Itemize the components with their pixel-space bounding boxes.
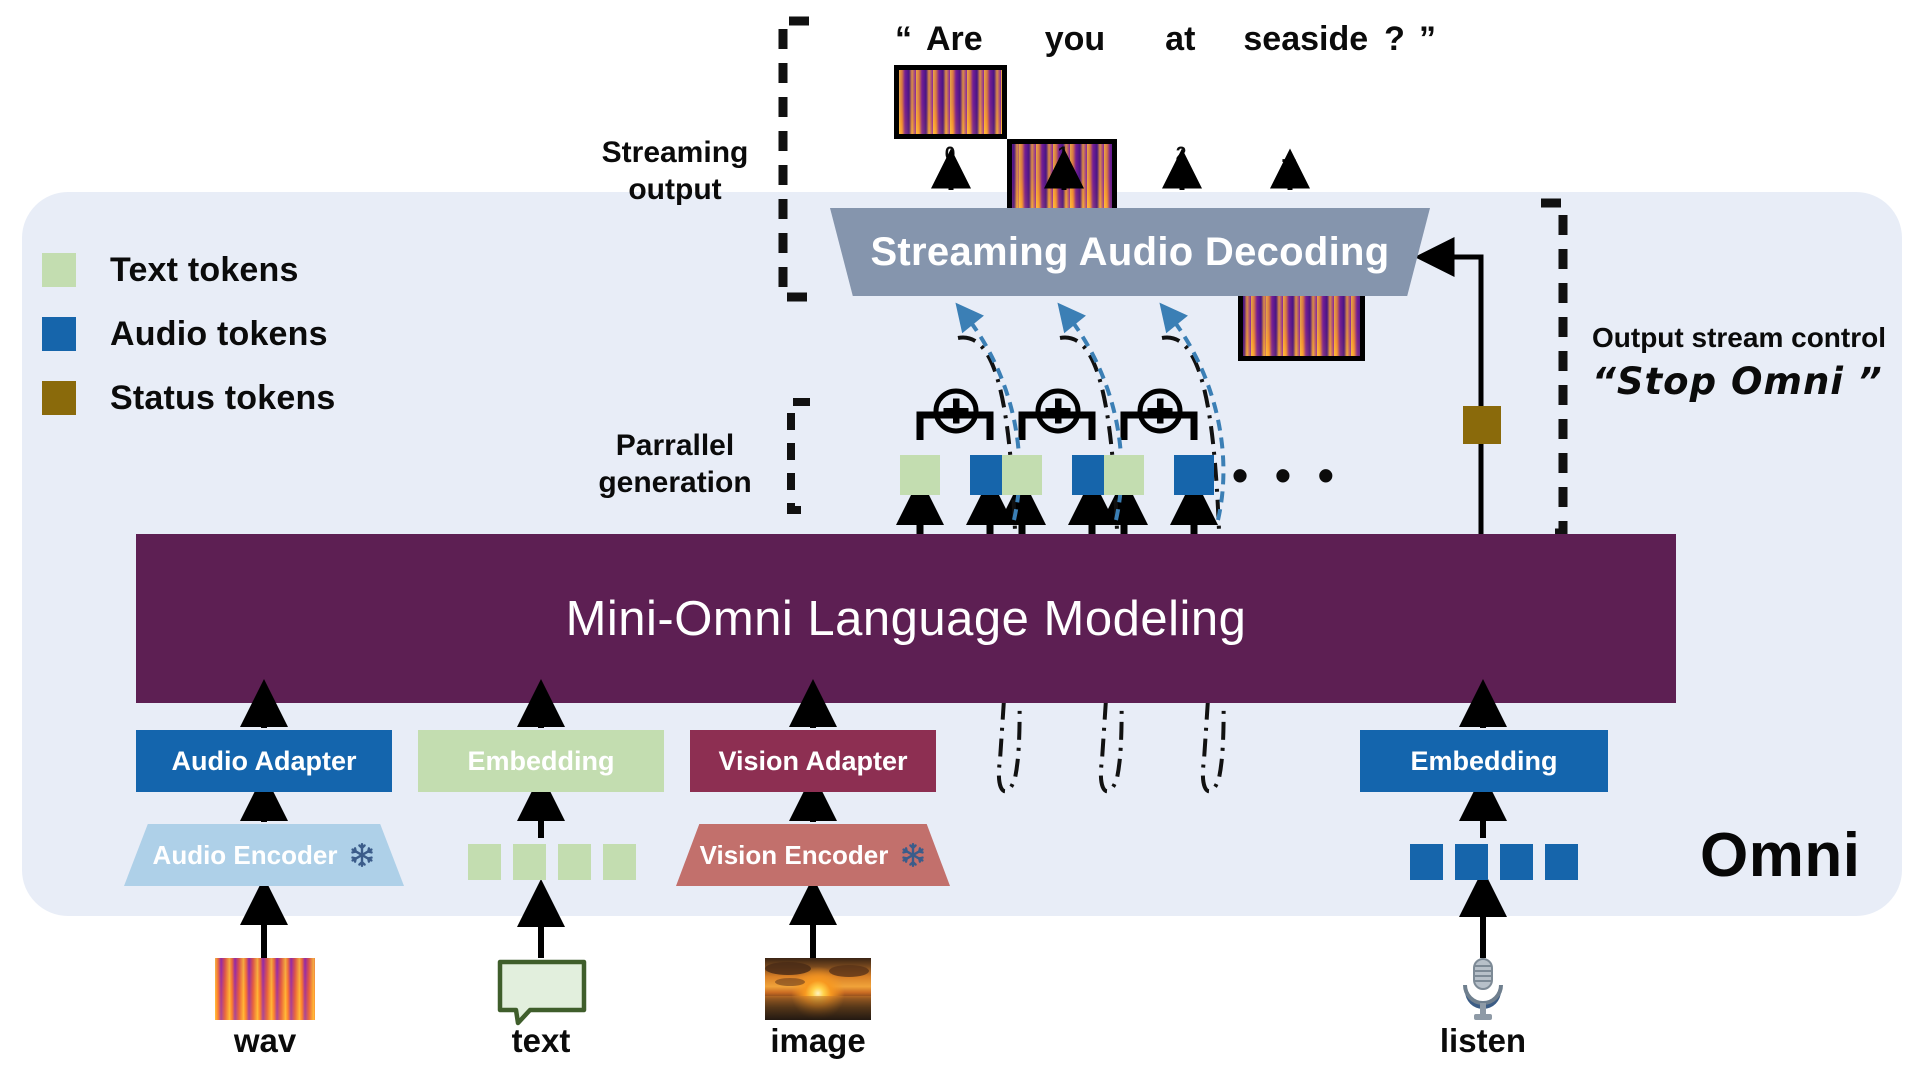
output-stream-control: Output stream control “Stop Omni ” <box>1592 322 1886 403</box>
legend-item-audio-tokens: Audio tokens <box>42 304 336 364</box>
sum-operator <box>1136 387 1184 440</box>
output-word: Are <box>926 20 983 59</box>
audio-embedding-label: Embedding <box>1411 746 1558 777</box>
output-stream-control-line2: “Stop Omni ” <box>1592 360 1886 403</box>
snowflake-icon <box>349 842 375 868</box>
input-label-image: image <box>743 1022 893 1060</box>
text-token-square <box>603 844 636 880</box>
output-word: ? <box>1384 20 1405 59</box>
streaming-audio-decoding-block[interactable]: Streaming Audio Decoding <box>830 208 1430 296</box>
vision-adapter-label: Vision Adapter <box>718 746 907 777</box>
streaming-output-bracket <box>775 18 815 300</box>
input-label-listen: listen <box>1408 1022 1558 1060</box>
page-title: Omni <box>1700 820 1860 891</box>
output-stream-control-line1: Output stream control <box>1592 322 1886 354</box>
parallel-generation-label-line2: generation <box>575 465 775 502</box>
streaming-output-sentence: “ Are you at seaside ? ” <box>895 15 1435 63</box>
parallel-generation-bracket <box>782 398 816 514</box>
legend-item-label: Audio tokens <box>110 315 328 354</box>
sum-operator <box>1034 387 1082 440</box>
spectrogram-thumbnail <box>215 958 315 1020</box>
text-token-square <box>900 455 940 495</box>
mini-omni-backbone[interactable]: Mini-Omni Language Modeling <box>136 534 1676 703</box>
sum-operator <box>932 387 980 440</box>
speech-bubble-icon <box>496 958 588 1031</box>
output-word: at <box>1165 20 1195 59</box>
microphone-icon <box>1452 955 1514 1030</box>
legend-item-label: Status tokens <box>110 379 336 418</box>
quote-open: “ <box>895 20 912 59</box>
input-label-text: text <box>466 1022 616 1060</box>
legend-item-text-tokens: Text tokens <box>42 240 336 300</box>
legend-item-status-tokens: Status tokens <box>42 368 336 428</box>
streaming-output-label-line2: output <box>580 172 770 209</box>
output-word: seaside <box>1243 20 1368 59</box>
vision-adapter-block[interactable]: Vision Adapter <box>690 730 936 792</box>
output-stream-control-bracket <box>1537 198 1577 538</box>
quote-close: ” <box>1419 20 1436 59</box>
chunk-index: 1 <box>1043 144 1083 166</box>
text-token-strip <box>468 844 636 880</box>
parallel-generation-label-line1: Parrallel <box>575 428 775 465</box>
parallel-generation-label: Parrallel generation <box>575 428 775 501</box>
spectrogram-chunk <box>1238 287 1365 361</box>
text-token-square <box>558 844 591 880</box>
audio-embedding-block[interactable]: Embedding <box>1360 730 1608 792</box>
streaming-audio-decoding-label: Streaming Audio Decoding <box>870 230 1389 275</box>
chunk-index: 2 <box>1161 144 1201 166</box>
snowflake-icon <box>900 842 926 868</box>
audio-token-strip <box>1410 844 1578 880</box>
legend-item-label: Text tokens <box>110 251 299 290</box>
audio-adapter-block[interactable]: Audio Adapter <box>136 730 392 792</box>
status-tokens-swatch-icon <box>42 381 76 415</box>
streaming-output-label: Streaming output <box>580 135 770 208</box>
spectrogram-chunk <box>894 65 1007 139</box>
text-token-square <box>1104 455 1144 495</box>
chunk-index: 0 <box>930 144 970 166</box>
sunset-photo-thumbnail <box>765 958 871 1020</box>
vision-encoder-block[interactable]: Vision Encoder <box>676 824 950 886</box>
status-token-square <box>1463 406 1501 444</box>
text-token-square <box>1002 455 1042 495</box>
audio-tokens-swatch-icon <box>42 317 76 351</box>
vision-encoder-label: Vision Encoder <box>700 840 889 871</box>
chunk-index: ... <box>1269 146 1309 168</box>
legend: Text tokens Audio tokens Status tokens <box>42 240 336 428</box>
text-token-square <box>513 844 546 880</box>
audio-adapter-label: Audio Adapter <box>172 746 357 777</box>
output-word: you <box>1045 20 1105 59</box>
mini-omni-backbone-label: Mini-Omni Language Modeling <box>566 591 1247 647</box>
audio-token-square <box>1545 844 1578 880</box>
audio-token-square <box>1174 455 1214 495</box>
text-embedding-label: Embedding <box>468 746 615 777</box>
text-token-square <box>468 844 501 880</box>
text-tokens-swatch-icon <box>42 253 76 287</box>
audio-token-square <box>1410 844 1443 880</box>
audio-token-square <box>1500 844 1533 880</box>
token-groups-ellipsis: • • • <box>1232 452 1341 498</box>
audio-encoder-label: Audio Encoder <box>153 840 338 871</box>
audio-token-square <box>1455 844 1488 880</box>
input-label-wav: wav <box>190 1022 340 1060</box>
text-embedding-block[interactable]: Embedding <box>418 730 664 792</box>
streaming-output-label-line1: Streaming <box>580 135 770 172</box>
audio-encoder-block[interactable]: Audio Encoder <box>124 824 404 886</box>
